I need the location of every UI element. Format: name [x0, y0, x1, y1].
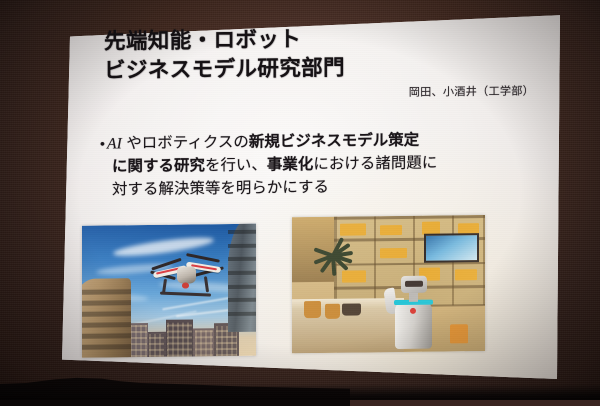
projection-screen-area: 先端知能・ロボット ビジネスモデル研究部門 岡田、小酒井（工学部） •AI やロ…: [0, 0, 600, 400]
title-line-2: ビジネスモデル研究部門: [104, 52, 534, 86]
body-bold-1: 新規ビジネスモデル策定: [249, 132, 419, 151]
body-plain-2b: における諸問題に: [313, 154, 437, 172]
figure-drone-over-city: [82, 224, 256, 358]
slide-content: 先端知能・ロボット ビジネスモデル研究部門 岡田、小酒井（工学部） •AI やロ…: [62, 8, 562, 388]
body-line-3: 対する解決策等を明らかにする: [98, 174, 548, 202]
photo-projection-tint: [292, 215, 485, 353]
photo-projection-tint: [82, 224, 256, 358]
slide-byline: 岡田、小酒井（工学部）: [104, 82, 534, 103]
body-plain-1a: やロボティクスの: [122, 134, 249, 152]
body-bold-2a: に関する研究: [112, 157, 205, 175]
body-latin-ai: AI: [107, 135, 122, 152]
body-bold-2b: 事業化: [267, 156, 313, 174]
bullet-glyph: •: [100, 135, 105, 151]
foreground-shadow: [0, 384, 600, 400]
slide-body: •AI やロボティクスの新規ビジネスモデル策定 に関する研究を行い、事業化におけ…: [98, 128, 548, 202]
body-plain-2a: を行い、: [205, 157, 267, 175]
slide-title: 先端知能・ロボット ビジネスモデル研究部門: [104, 22, 534, 86]
figure-service-robot-lobby: [292, 215, 485, 353]
